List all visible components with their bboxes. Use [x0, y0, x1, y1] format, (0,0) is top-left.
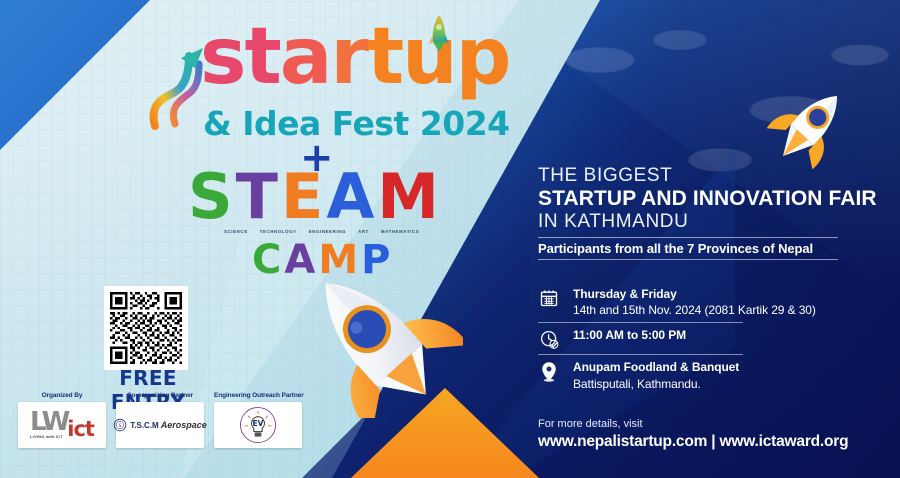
lwict-tagline: LIVING with ICT	[30, 434, 67, 439]
steam-letter-a: A	[326, 166, 377, 228]
event-poster: startup & Idea Fest 2024 +	[0, 0, 900, 478]
headline-divider-bottom	[538, 259, 838, 260]
steam-subtitle: SCIENCETECHNOLOGYENGINEERINGARTMATHEMATI…	[224, 229, 431, 234]
headline-line3: IN KATHMANDU	[538, 211, 888, 233]
lwict-accent: ict	[67, 420, 94, 439]
event-details: Thursday & Friday 14th and 15th Nov. 202…	[538, 282, 888, 396]
footer-links[interactable]: www.nepalistartup.com | www.ictaward.org	[538, 433, 898, 451]
rocket-icon-dot	[428, 14, 450, 54]
partner-logos: Organized By LW LIVING with ICT ict Co-o…	[18, 392, 302, 448]
wordmark-startup: startup	[200, 18, 510, 96]
tscm-seal-icon: S	[113, 418, 127, 432]
detail-row-date: Thursday & Friday 14th and 15th Nov. 202…	[538, 282, 888, 322]
location-pin-icon	[538, 359, 560, 383]
steam-letter-t: T	[236, 166, 281, 228]
time-title: 11:00 AM to 5:00 PM	[573, 327, 686, 343]
steam-sub-engineering: ENGINEERING	[309, 229, 346, 234]
rocket-icon-small	[762, 78, 858, 174]
footer-prompt: For more details, visit	[538, 418, 898, 430]
headline-block: THE BIGGEST STARTUP AND INNOVATION FAIR …	[538, 165, 888, 260]
steam-wordmark: STEAM	[188, 166, 448, 228]
qr-code[interactable]	[104, 286, 188, 370]
date-title: Thursday & Friday	[573, 286, 816, 302]
steam-sub-science: SCIENCE	[224, 229, 248, 234]
partner-logo-ev: EV	[214, 402, 302, 448]
tscm-accent: Aerospace	[161, 420, 207, 430]
calendar-icon	[538, 286, 560, 308]
partner-label: Co-organizing Partner	[116, 392, 204, 399]
headline-divider-top	[538, 237, 838, 238]
ev-mark: EV	[253, 419, 264, 428]
tscm-mark: T.S.C.M	[130, 421, 158, 430]
svg-text:S: S	[119, 423, 122, 428]
date-value: 14th and 15th Nov. 2024 (2081 Kartik 29 …	[573, 302, 816, 318]
detail-row-venue: Anupam Foodland & Banquet Battisputali, …	[538, 355, 888, 395]
partner-logo-lwict: LW LIVING with ICT ict	[18, 402, 106, 448]
steam-letter-m: M	[377, 166, 442, 228]
growth-arrow-icon	[145, 34, 203, 134]
headline-participants: Participants from all the 7 Provinces of…	[538, 241, 888, 256]
steam-sub-art: ART	[358, 229, 369, 234]
headline-line2: STARTUP AND INNOVATION FAIR	[538, 187, 888, 211]
partner-engineering-outreach: Engineering Outreach Partner EV	[214, 392, 302, 448]
partner-organized-by: Organized By LW LIVING with ICT ict	[18, 392, 106, 448]
venue-value: Battisputali, Kathmandu.	[573, 376, 739, 392]
partner-label: Organized By	[18, 392, 106, 399]
lightbulb-icon: EV	[238, 405, 278, 445]
rocket-icon-large	[288, 258, 463, 418]
steam-letter-e: E	[281, 166, 326, 228]
partner-co-organizing: Co-organizing Partner S T.S.C.M Aerospac…	[116, 392, 204, 448]
venue-title: Anupam Foodland & Banquet	[573, 359, 739, 375]
startup-logo: startup & Idea Fest 2024	[145, 22, 490, 147]
partner-logo-tscm: S T.S.C.M Aerospace	[116, 402, 204, 448]
camp-letter-c: C	[252, 237, 284, 283]
steam-letter-s: S	[188, 166, 236, 228]
steam-sub-technology: TECHNOLOGY	[260, 229, 297, 234]
partner-label: Engineering Outreach Partner	[214, 392, 302, 399]
headline-line1: THE BIGGEST	[538, 165, 888, 187]
wordmark-subtitle: & Idea Fest 2024	[203, 104, 510, 143]
qr-code-image	[110, 292, 182, 364]
footer-block: For more details, visit www.nepalistartu…	[538, 418, 898, 451]
lwict-mark: LW	[30, 411, 67, 433]
clock-icon	[538, 327, 560, 350]
detail-row-time: 11:00 AM to 5:00 PM	[538, 323, 888, 354]
steam-sub-mathematics: MATHEMATICS	[381, 229, 419, 234]
